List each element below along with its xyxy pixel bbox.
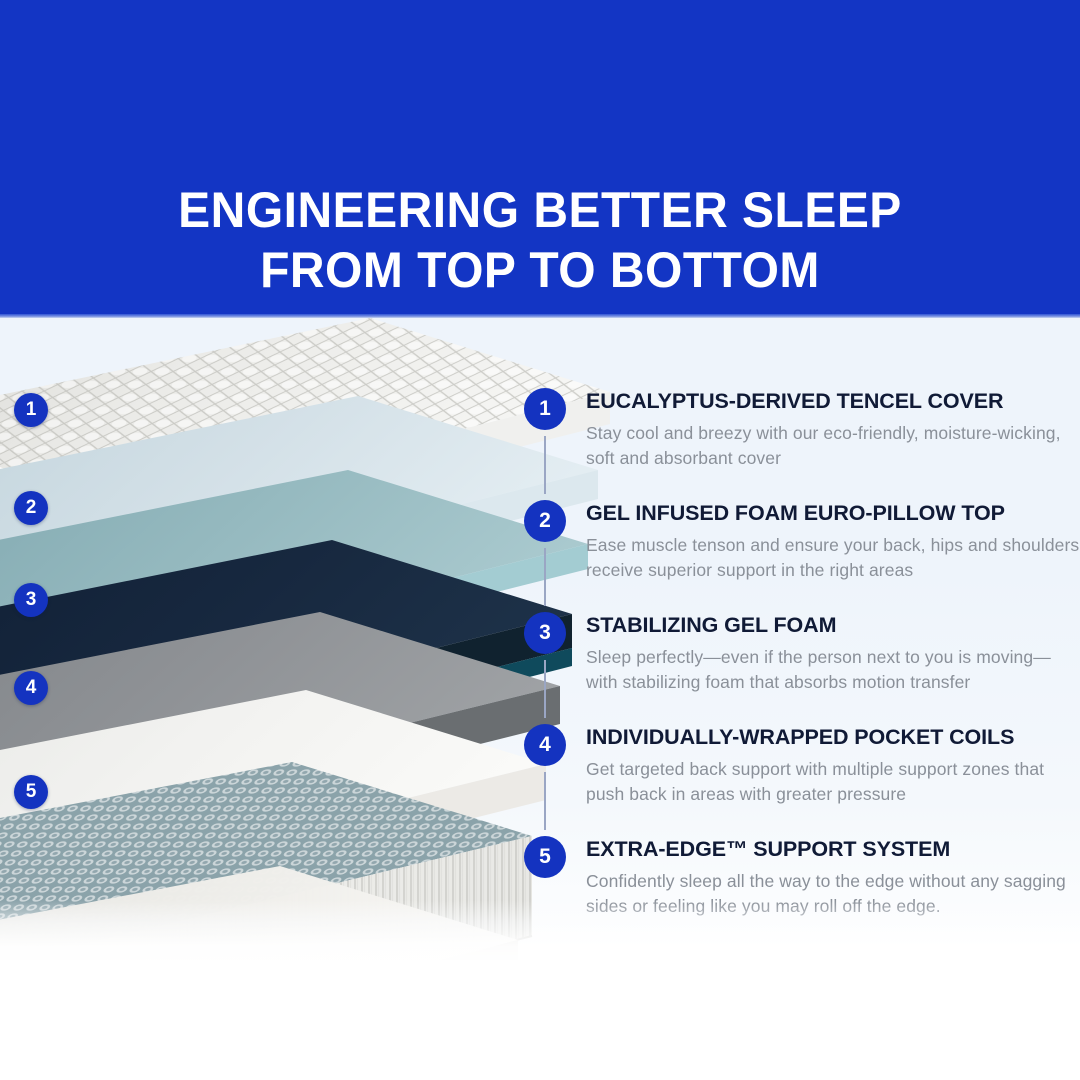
page-title: ENGINEERING BETTER SLEEP FROM TOP TO BOT… (0, 180, 1080, 300)
layer-badge-4: 4 (14, 671, 48, 705)
layer-badge-3: 3 (14, 583, 48, 617)
list-item: 4 INDIVIDUALLY-WRAPPED POCKET COILS Get … (524, 724, 1080, 834)
list-item: 2 GEL INFUSED FOAM EURO-PILLOW TOP Ease … (524, 500, 1080, 610)
badge-connector (544, 548, 546, 606)
title-line-1: ENGINEERING BETTER SLEEP (22, 180, 1059, 240)
infographic-canvas: ENGINEERING BETTER SLEEP FROM TOP TO BOT… (0, 0, 1080, 1080)
feature-title-3: STABILIZING GEL FOAM (586, 612, 1080, 638)
list-item: 1 EUCALYPTUS-DERIVED TENCEL COVER Stay c… (524, 388, 1080, 498)
feature-badge-1: 1 (524, 388, 566, 430)
list-item: 5 EXTRA-EDGE™ SUPPORT SYSTEM Confidently… (524, 836, 1080, 926)
feature-badge-2: 2 (524, 500, 566, 542)
badge-connector (544, 772, 546, 830)
mattress-layer-illustration (0, 300, 610, 960)
layer-badge-2: 2 (14, 491, 48, 525)
feature-badge-3: 3 (524, 612, 566, 654)
feature-desc-4: Get targeted back support with multiple … (586, 757, 1080, 807)
list-item: 3 STABILIZING GEL FOAM Sleep perfectly—e… (524, 612, 1080, 722)
feature-title-4: INDIVIDUALLY-WRAPPED POCKET COILS (586, 724, 1080, 750)
feature-desc-3: Sleep perfectly—even if the person next … (586, 645, 1080, 695)
feature-desc-2: Ease muscle tenson and ensure your back,… (586, 533, 1080, 583)
layer-badge-1: 1 (14, 393, 48, 427)
feature-list: 1 EUCALYPTUS-DERIVED TENCEL COVER Stay c… (524, 386, 1080, 926)
title-line-2: FROM TOP TO BOTTOM (22, 240, 1059, 300)
feature-title-1: EUCALYPTUS-DERIVED TENCEL COVER (586, 388, 1080, 414)
feature-title-2: GEL INFUSED FOAM EURO-PILLOW TOP (586, 500, 1080, 526)
feature-desc-5: Confidently sleep all the way to the edg… (586, 869, 1080, 919)
feature-desc-1: Stay cool and breezy with our eco-friend… (586, 421, 1080, 471)
feature-badge-5: 5 (524, 836, 566, 878)
feature-badge-4: 4 (524, 724, 566, 766)
badge-connector (544, 436, 546, 494)
layer-badge-5: 5 (14, 775, 48, 809)
badge-connector (544, 660, 546, 718)
feature-title-5: EXTRA-EDGE™ SUPPORT SYSTEM (586, 836, 1080, 862)
